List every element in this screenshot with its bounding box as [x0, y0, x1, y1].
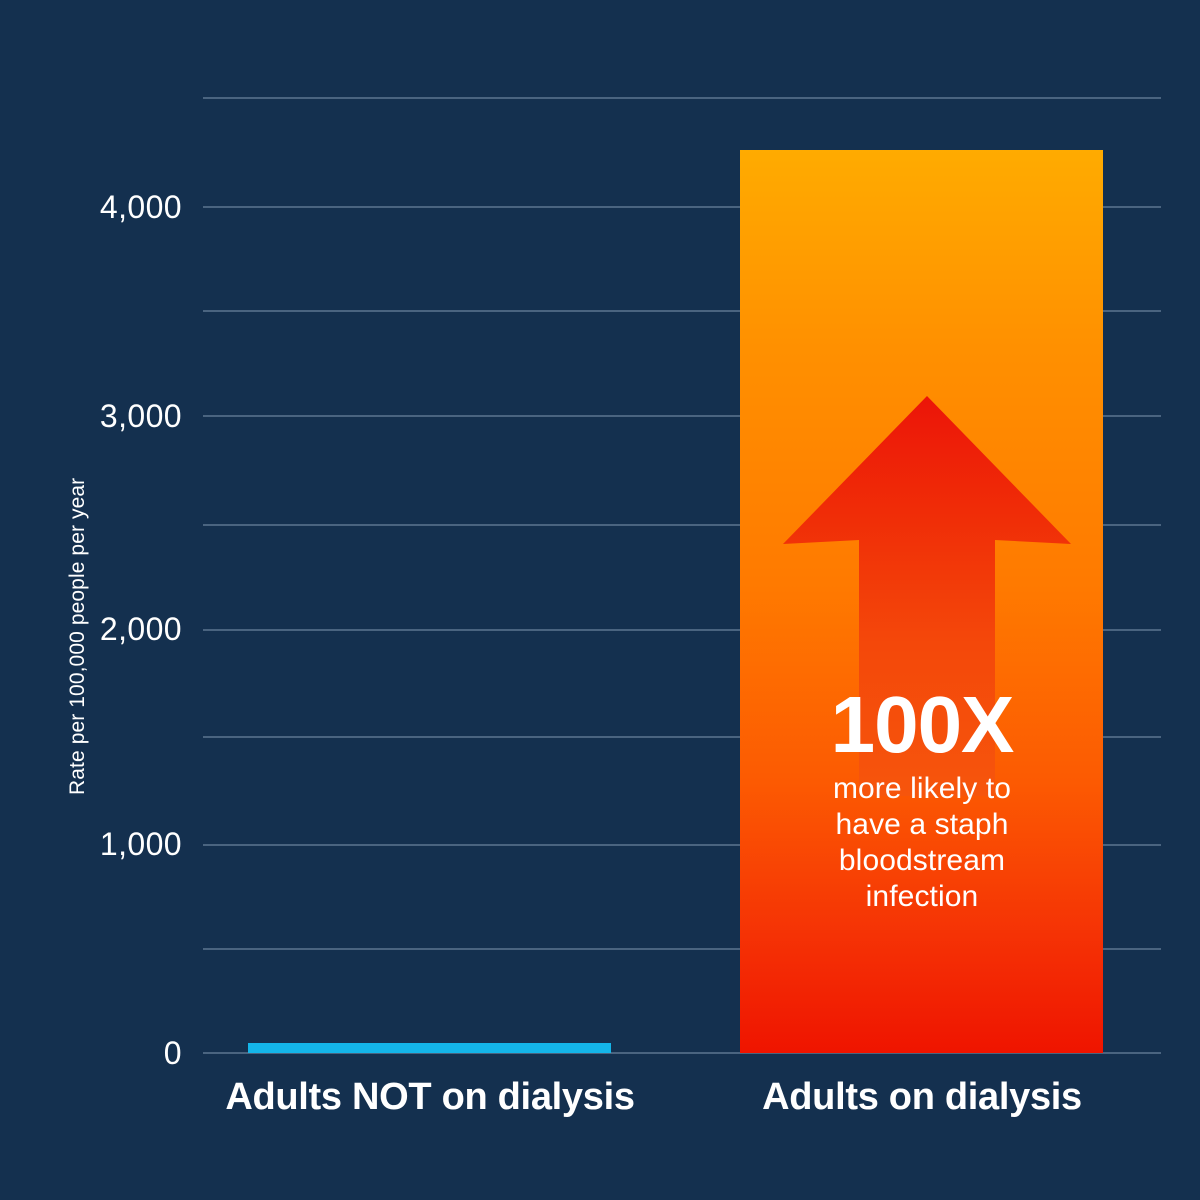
y-tick-label-0: 0 — [0, 1037, 182, 1069]
y-tick-label-1000: 1,000 — [0, 828, 182, 860]
gridline-4500 — [203, 97, 1161, 99]
bar-adults-not-on-dialysis — [248, 1043, 611, 1053]
callout-line-2: have a staph — [772, 807, 1072, 843]
bar-adults-on-dialysis: 100X more likely to have a staph bloodst… — [740, 150, 1103, 1053]
y-tick-label-3000: 3,000 — [0, 400, 182, 432]
callout-annotation: 100X more likely to have a staph bloodst… — [772, 685, 1072, 915]
y-axis-title: Rate per 100,000 people per year — [58, 275, 98, 795]
callout-line-3: bloodstream — [772, 843, 1072, 879]
bar-chart: Rate per 100,000 people per year 4,000 3… — [0, 0, 1200, 1200]
callout-line-4: infection — [772, 879, 1072, 915]
callout-headline: 100X — [772, 685, 1072, 765]
x-category-label-right: Adults on dialysis — [672, 1075, 1172, 1119]
x-category-label-left: Adults NOT on dialysis — [180, 1075, 680, 1119]
callout-line-1: more likely to — [772, 771, 1072, 807]
y-tick-label-4000: 4,000 — [0, 191, 182, 223]
y-tick-label-2000: 2,000 — [0, 613, 182, 645]
